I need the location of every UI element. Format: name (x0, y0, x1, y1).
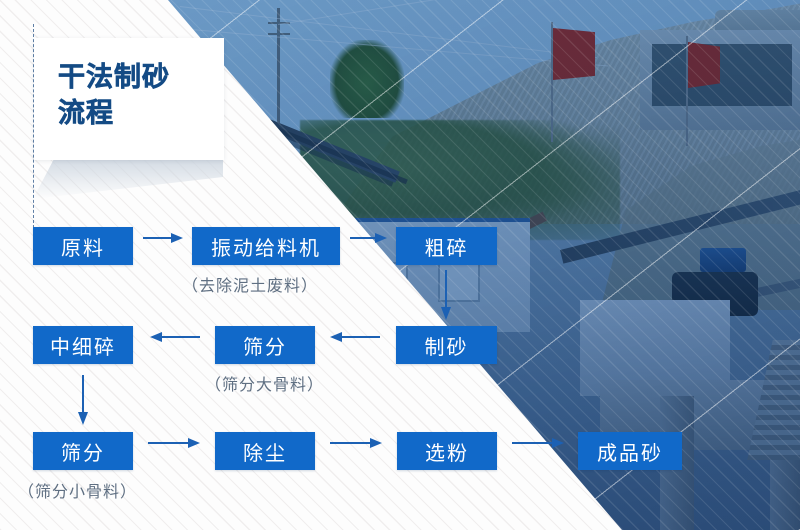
flow-note: （筛分小骨料） (18, 478, 137, 502)
flow-node-row-2-1[interactable]: 中细碎 (33, 326, 133, 364)
arrow-right-icon (512, 436, 564, 450)
arrow-right-icon (330, 436, 382, 450)
flow-note: （去除泥土废料） (182, 272, 318, 296)
title-card: 干法制砂 流程 (34, 38, 224, 160)
flow-node-row-3-4[interactable]: 成品砂 (578, 432, 682, 470)
flow-note: （筛分大骨料） (205, 371, 324, 395)
arrow-right-icon (350, 231, 387, 245)
infographic-root: 干法制砂 流程 原料振动给料机粗碎 （去除泥土废料）中细碎筛分制砂 （筛分大骨料… (0, 0, 800, 530)
flow-node-row-2-3[interactable]: 制砂 (396, 326, 497, 364)
down-arrow-coarse-to-sand (439, 270, 453, 320)
page-title: 干法制砂 流程 (58, 60, 170, 132)
down-arrow-fine-to-screen (76, 375, 90, 425)
flow-node-row-2-2[interactable]: 筛分 (215, 326, 315, 364)
arrow-left-icon (150, 330, 200, 344)
flow-node-row-1-1[interactable]: 原料 (33, 227, 133, 265)
flow-node-row-3-1[interactable]: 筛分 (33, 432, 133, 470)
arrow-right-icon (148, 436, 200, 450)
flow-node-row-1-3[interactable]: 粗碎 (396, 227, 497, 265)
arrow-right-icon (143, 231, 183, 245)
flow-node-row-3-2[interactable]: 除尘 (215, 432, 315, 470)
flow-node-row-3-3[interactable]: 选粉 (397, 432, 497, 470)
arrow-left-icon (330, 330, 380, 344)
flow-node-row-1-2[interactable]: 振动给料机 (192, 227, 340, 265)
